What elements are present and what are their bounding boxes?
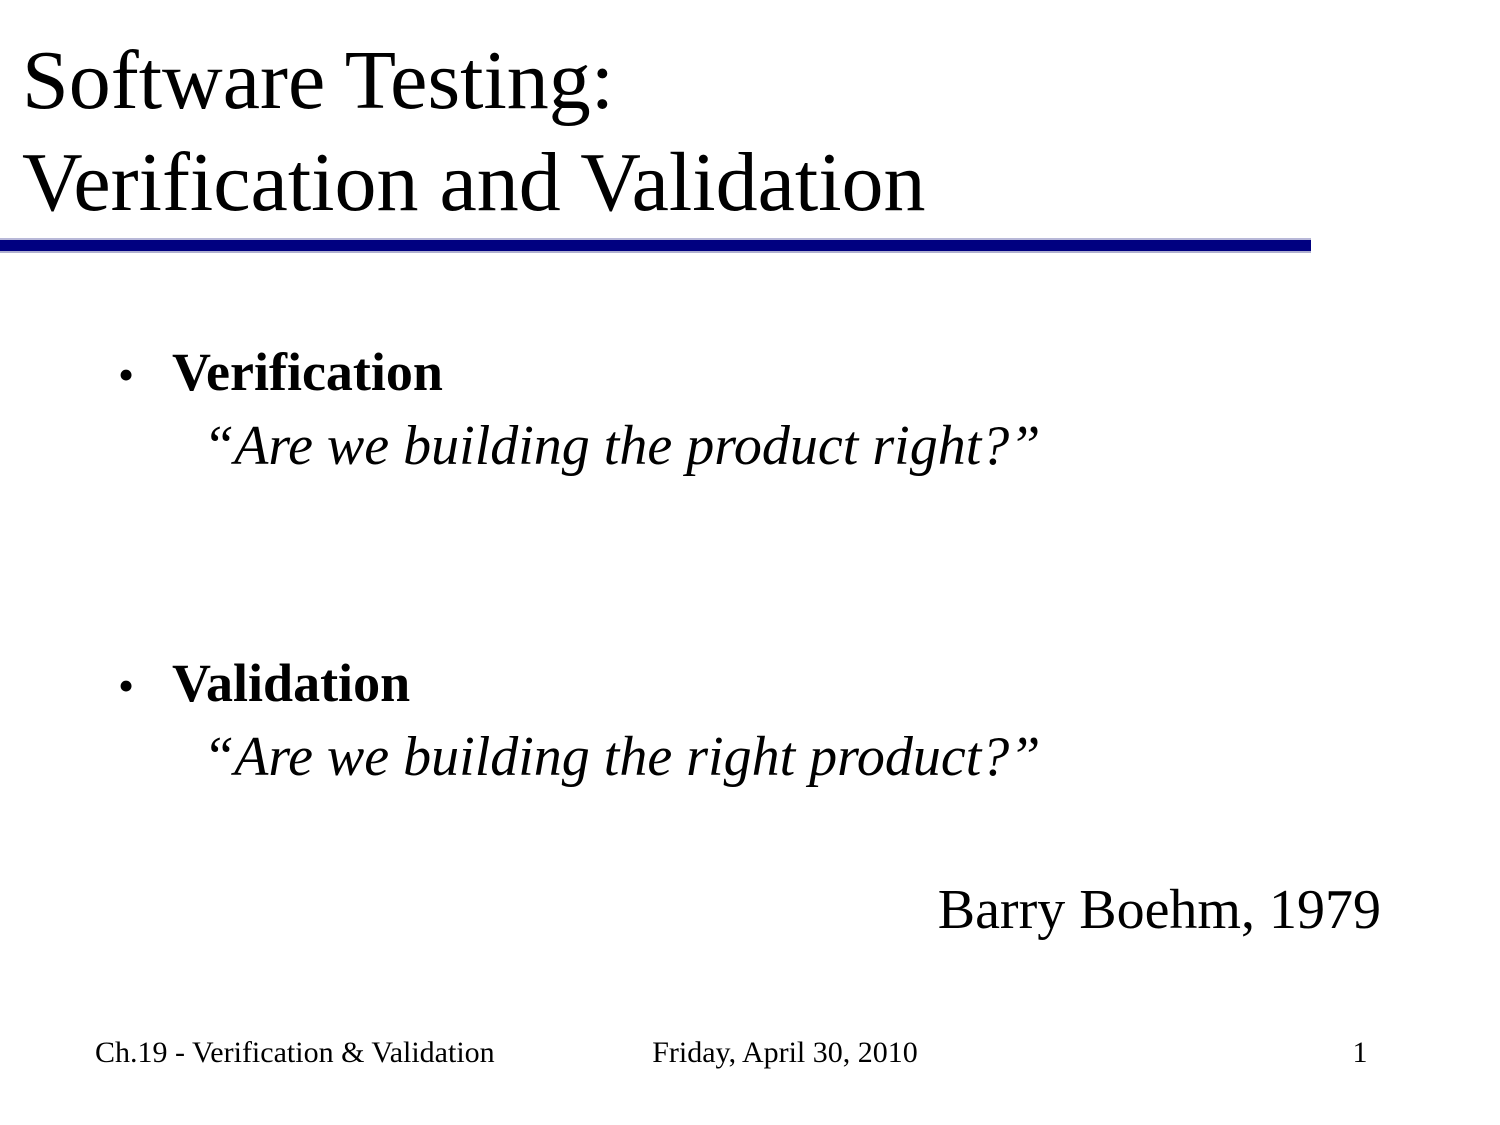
footer-page-number: 1 — [1290, 1030, 1430, 1076]
bullet-label-validation: Validation — [172, 655, 410, 712]
title-line-2: Verification and Validation — [22, 132, 1402, 234]
quote-validation: “Are we building the right product?” — [0, 726, 1500, 789]
slide-title: Software Testing: Verification and Valid… — [22, 30, 1402, 235]
presentation-slide: Software Testing: Verification and Valid… — [0, 0, 1500, 1125]
bullet-item-validation: • Validation — [0, 655, 1500, 712]
bullet-label-verification: Verification — [172, 344, 443, 401]
slide-footer: Ch.19 - Verification & Validation Friday… — [0, 1030, 1500, 1076]
title-divider-rule — [0, 238, 1311, 253]
bullet-point-icon: • — [118, 352, 172, 398]
quote-verification: “Are we building the product right?” — [0, 415, 1500, 478]
bullet-group-validation: • Validation “Are we building the right … — [0, 655, 1500, 788]
slide-body: • Verification “Are we building the prod… — [0, 330, 1500, 789]
bullet-group-verification: • Verification “Are we building the prod… — [0, 344, 1500, 477]
quote-attribution: Barry Boehm, 1979 — [0, 880, 1381, 942]
title-line-1: Software Testing: — [22, 30, 1402, 132]
bullet-point-icon: • — [118, 663, 172, 709]
bullet-item-verification: • Verification — [0, 344, 1500, 401]
footer-date: Friday, April 30, 2010 — [500, 1030, 1070, 1076]
footer-chapter-label: Ch.19 - Verification & Validation — [95, 1030, 495, 1076]
